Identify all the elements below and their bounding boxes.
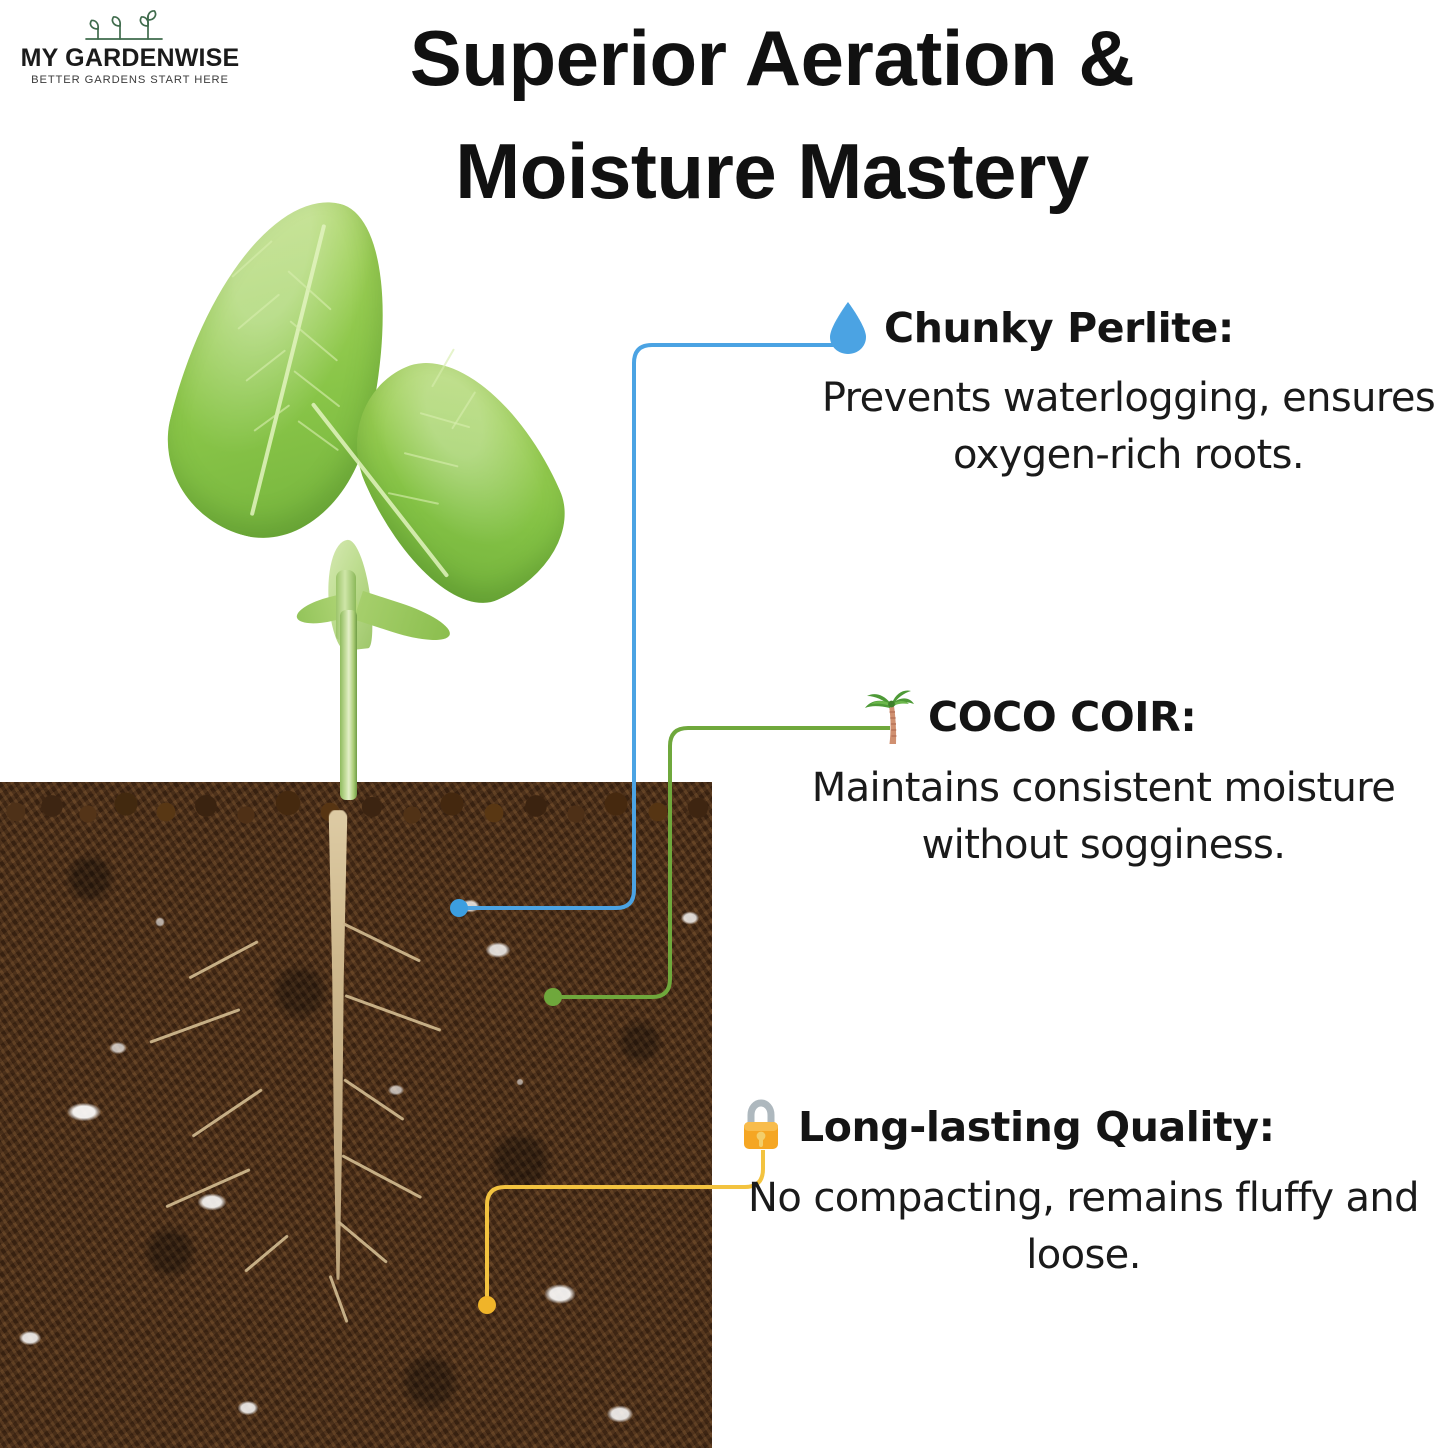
- rootlet: [165, 1168, 250, 1208]
- rootlet: [329, 1275, 349, 1323]
- water-drop-icon: [826, 300, 870, 356]
- callout-body: No compacting, remains fluffy and loose.: [722, 1170, 1445, 1284]
- rootlet: [192, 1088, 263, 1137]
- padlock-icon: [738, 1098, 784, 1156]
- page-title-line1: Superior Aeration &: [410, 14, 1134, 102]
- rootlet: [337, 1220, 388, 1263]
- rootlet: [342, 922, 421, 962]
- palm-tree-icon: [862, 688, 914, 746]
- callout-body: Maintains consistent moisture without so…: [762, 760, 1445, 874]
- rootlet: [244, 1234, 289, 1272]
- callout-heading: Chunky Perlite:: [884, 304, 1234, 352]
- soil-cross-section-photo: [0, 782, 712, 1448]
- callout-heading: COCO COIR:: [928, 693, 1196, 741]
- callout-heading: Long-lasting Quality:: [798, 1103, 1275, 1151]
- rootlet: [149, 1008, 240, 1044]
- rootlet: [188, 940, 258, 979]
- three-sprouts-icon: [80, 8, 180, 44]
- callout-body: Prevents waterlogging, ensures oxygen-ri…: [812, 370, 1445, 484]
- taproot: [325, 810, 351, 1280]
- rootlet: [341, 1154, 422, 1199]
- callout-coco-coir: COCO COIR: Maintains consistent moisture…: [762, 688, 1445, 874]
- rootlet: [344, 994, 441, 1032]
- brand-tagline: BETTER GARDENS START HERE: [10, 74, 250, 86]
- rootlet: [343, 1078, 404, 1121]
- stem: [340, 610, 357, 800]
- brand-name: MY GARDENWISE: [10, 45, 250, 71]
- seedling-plant: [0, 180, 712, 820]
- brand-logo: MY GARDENWISE BETTER GARDENS START HERE: [10, 8, 250, 86]
- callout-long-lasting-quality: Long-lasting Quality: No compacting, rem…: [722, 1098, 1445, 1284]
- callout-chunky-perlite: Chunky Perlite: Prevents waterlogging, e…: [812, 300, 1445, 484]
